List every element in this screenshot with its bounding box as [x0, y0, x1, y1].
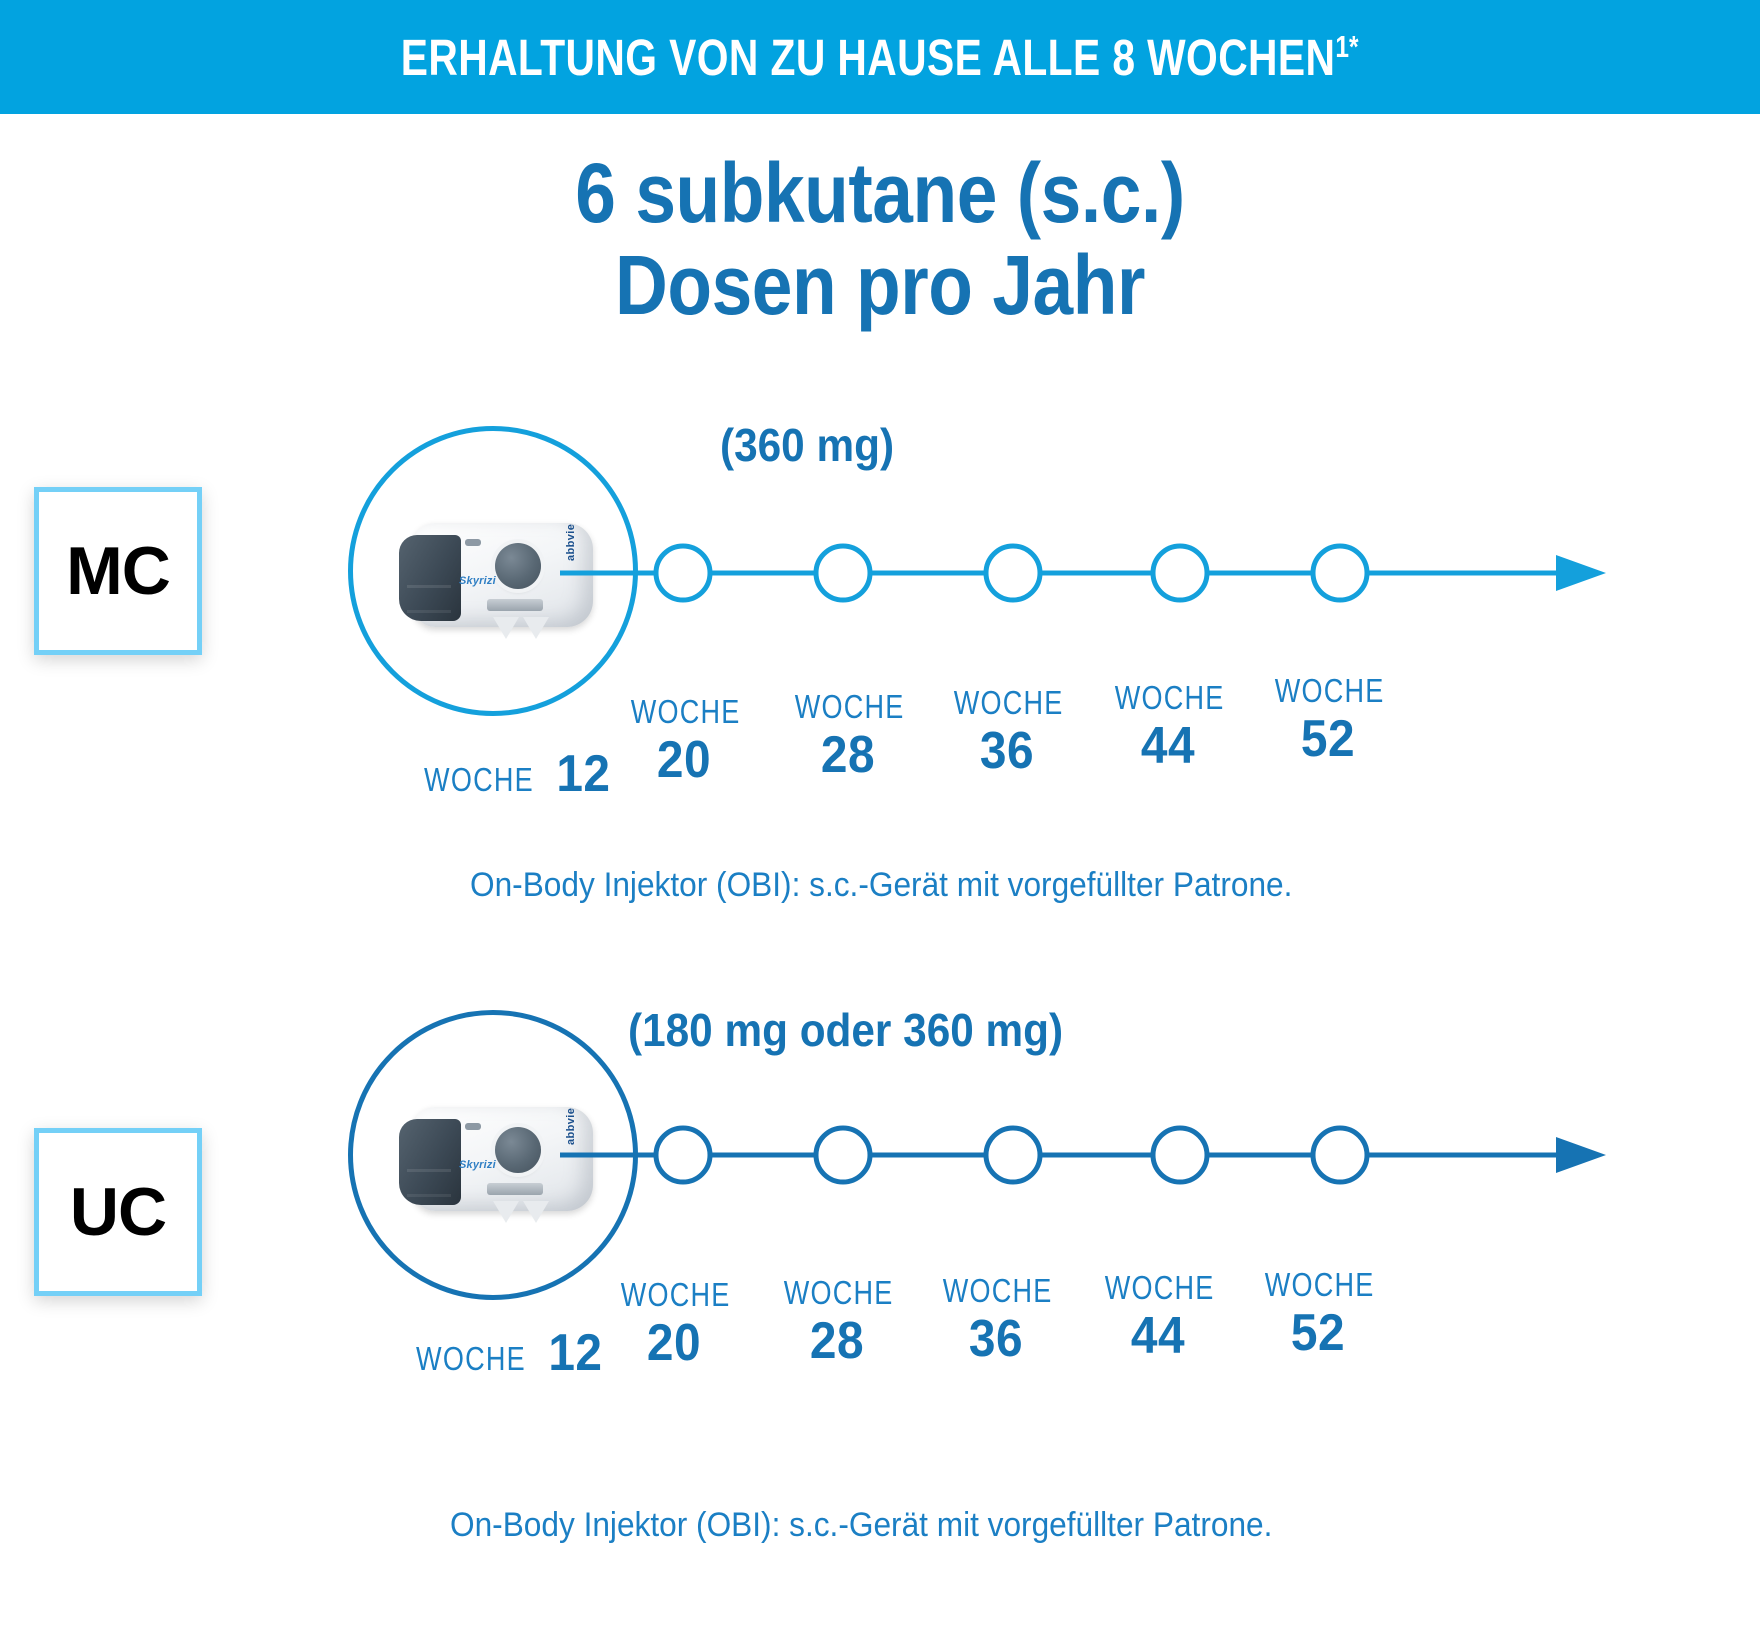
- device-dial: [495, 543, 541, 589]
- timeline-node-week-36: [986, 1128, 1040, 1182]
- timeline-node-week-44: [1153, 546, 1207, 600]
- week-label-uc-44: WOCHE 44: [1093, 1271, 1223, 1362]
- week-number: 20: [614, 1317, 734, 1369]
- device-dial: [495, 1127, 541, 1173]
- week-word: WOCHE: [424, 763, 534, 796]
- week-label-mc-12: WOCHE 12: [412, 748, 613, 800]
- week-word: WOCHE: [1275, 674, 1382, 707]
- week-number: 44: [1108, 720, 1228, 772]
- week-word: WOCHE: [795, 690, 902, 723]
- week-number: 36: [936, 1313, 1056, 1365]
- timeline-node-week-52: [1313, 1128, 1367, 1182]
- week-label-uc-52: WOCHE 52: [1253, 1268, 1383, 1359]
- infographic-page: ERHALTUNG VON ZU HAUSE ALLE 8 WOCHEN1* 6…: [0, 0, 1760, 1646]
- week-label-mc-44: WOCHE 44: [1103, 681, 1233, 772]
- badge-uc-label: UC: [70, 1178, 166, 1246]
- week-word: WOCHE: [1105, 1271, 1212, 1304]
- device-legs: [493, 617, 557, 639]
- device-cap: [399, 1119, 461, 1205]
- timeline-node-week-36: [986, 546, 1040, 600]
- header-title-text: ERHALTUNG VON ZU HAUSE ALLE 8 WOCHEN: [401, 29, 1336, 86]
- device-led-icon: [465, 539, 481, 546]
- week-number: 12: [556, 748, 610, 800]
- week-word: WOCHE: [1115, 681, 1222, 714]
- header-band: ERHALTUNG VON ZU HAUSE ALLE 8 WOCHEN1*: [0, 0, 1760, 114]
- week-number: 28: [777, 1315, 897, 1367]
- week-label-uc-12: WOCHE 12: [404, 1327, 605, 1379]
- timeline-uc: [560, 1122, 1620, 1188]
- badge-mc: MC: [34, 487, 202, 655]
- week-label-mc-52: WOCHE 52: [1263, 674, 1393, 765]
- timeline-arrowhead-icon: [1556, 1137, 1606, 1173]
- week-label-mc-28: WOCHE 28: [783, 690, 913, 781]
- timeline-node-week-52: [1313, 546, 1367, 600]
- device-brand-label: Skyrizi: [459, 1159, 496, 1171]
- week-word: WOCHE: [631, 695, 738, 728]
- week-number: 28: [788, 729, 908, 781]
- timeline-mc: [560, 540, 1620, 606]
- device-led-icon: [465, 1123, 481, 1130]
- week-number: 36: [947, 725, 1067, 777]
- page-title-line-2: Dosen pro Jahr: [114, 240, 1645, 332]
- week-word: WOCHE: [954, 686, 1061, 719]
- footnote-mc: On-Body Injektor (OBI): s.c.-Gerät mit v…: [470, 866, 1292, 905]
- week-word: WOCHE: [416, 1342, 526, 1375]
- week-word: WOCHE: [1265, 1268, 1372, 1301]
- week-label-mc-36: WOCHE 36: [942, 686, 1072, 777]
- timeline-node-week-20: [656, 1128, 710, 1182]
- page-title: 6 subkutane (s.c.) Dosen pro Jahr: [0, 148, 1760, 331]
- week-number: 44: [1098, 1310, 1218, 1362]
- week-number: 52: [1268, 713, 1388, 765]
- header-title: ERHALTUNG VON ZU HAUSE ALLE 8 WOCHEN1*: [401, 32, 1359, 83]
- device-cap: [399, 535, 461, 621]
- footnote-uc: On-Body Injektor (OBI): s.c.-Gerät mit v…: [450, 1506, 1272, 1545]
- badge-mc-label: MC: [66, 537, 170, 605]
- week-number: 20: [624, 734, 744, 786]
- week-number: 52: [1258, 1307, 1378, 1359]
- week-number: 12: [548, 1327, 602, 1379]
- dose-amount-mc: (360 mg): [720, 422, 894, 468]
- timeline-node-week-20: [656, 546, 710, 600]
- timeline-node-week-28: [816, 546, 870, 600]
- week-word: WOCHE: [621, 1278, 728, 1311]
- week-label-uc-36: WOCHE 36: [931, 1274, 1061, 1365]
- timeline-node-week-44: [1153, 1128, 1207, 1182]
- dose-amount-uc: (180 mg oder 360 mg): [628, 1007, 1063, 1053]
- device-window: [487, 1183, 543, 1195]
- device-legs: [493, 1201, 557, 1223]
- header-title-superscript: 1*: [1336, 30, 1359, 64]
- timeline-arrowhead-icon: [1556, 555, 1606, 591]
- week-label-uc-28: WOCHE 28: [772, 1276, 902, 1367]
- week-label-mc-20: WOCHE 20: [619, 695, 749, 786]
- device-brand-label: Skyrizi: [459, 575, 496, 587]
- week-label-uc-20: WOCHE 20: [609, 1278, 739, 1369]
- week-word: WOCHE: [784, 1276, 891, 1309]
- device-window: [487, 599, 543, 611]
- timeline-node-week-28: [816, 1128, 870, 1182]
- page-title-line-1: 6 subkutane (s.c.): [114, 148, 1645, 240]
- badge-uc: UC: [34, 1128, 202, 1296]
- week-word: WOCHE: [943, 1274, 1050, 1307]
